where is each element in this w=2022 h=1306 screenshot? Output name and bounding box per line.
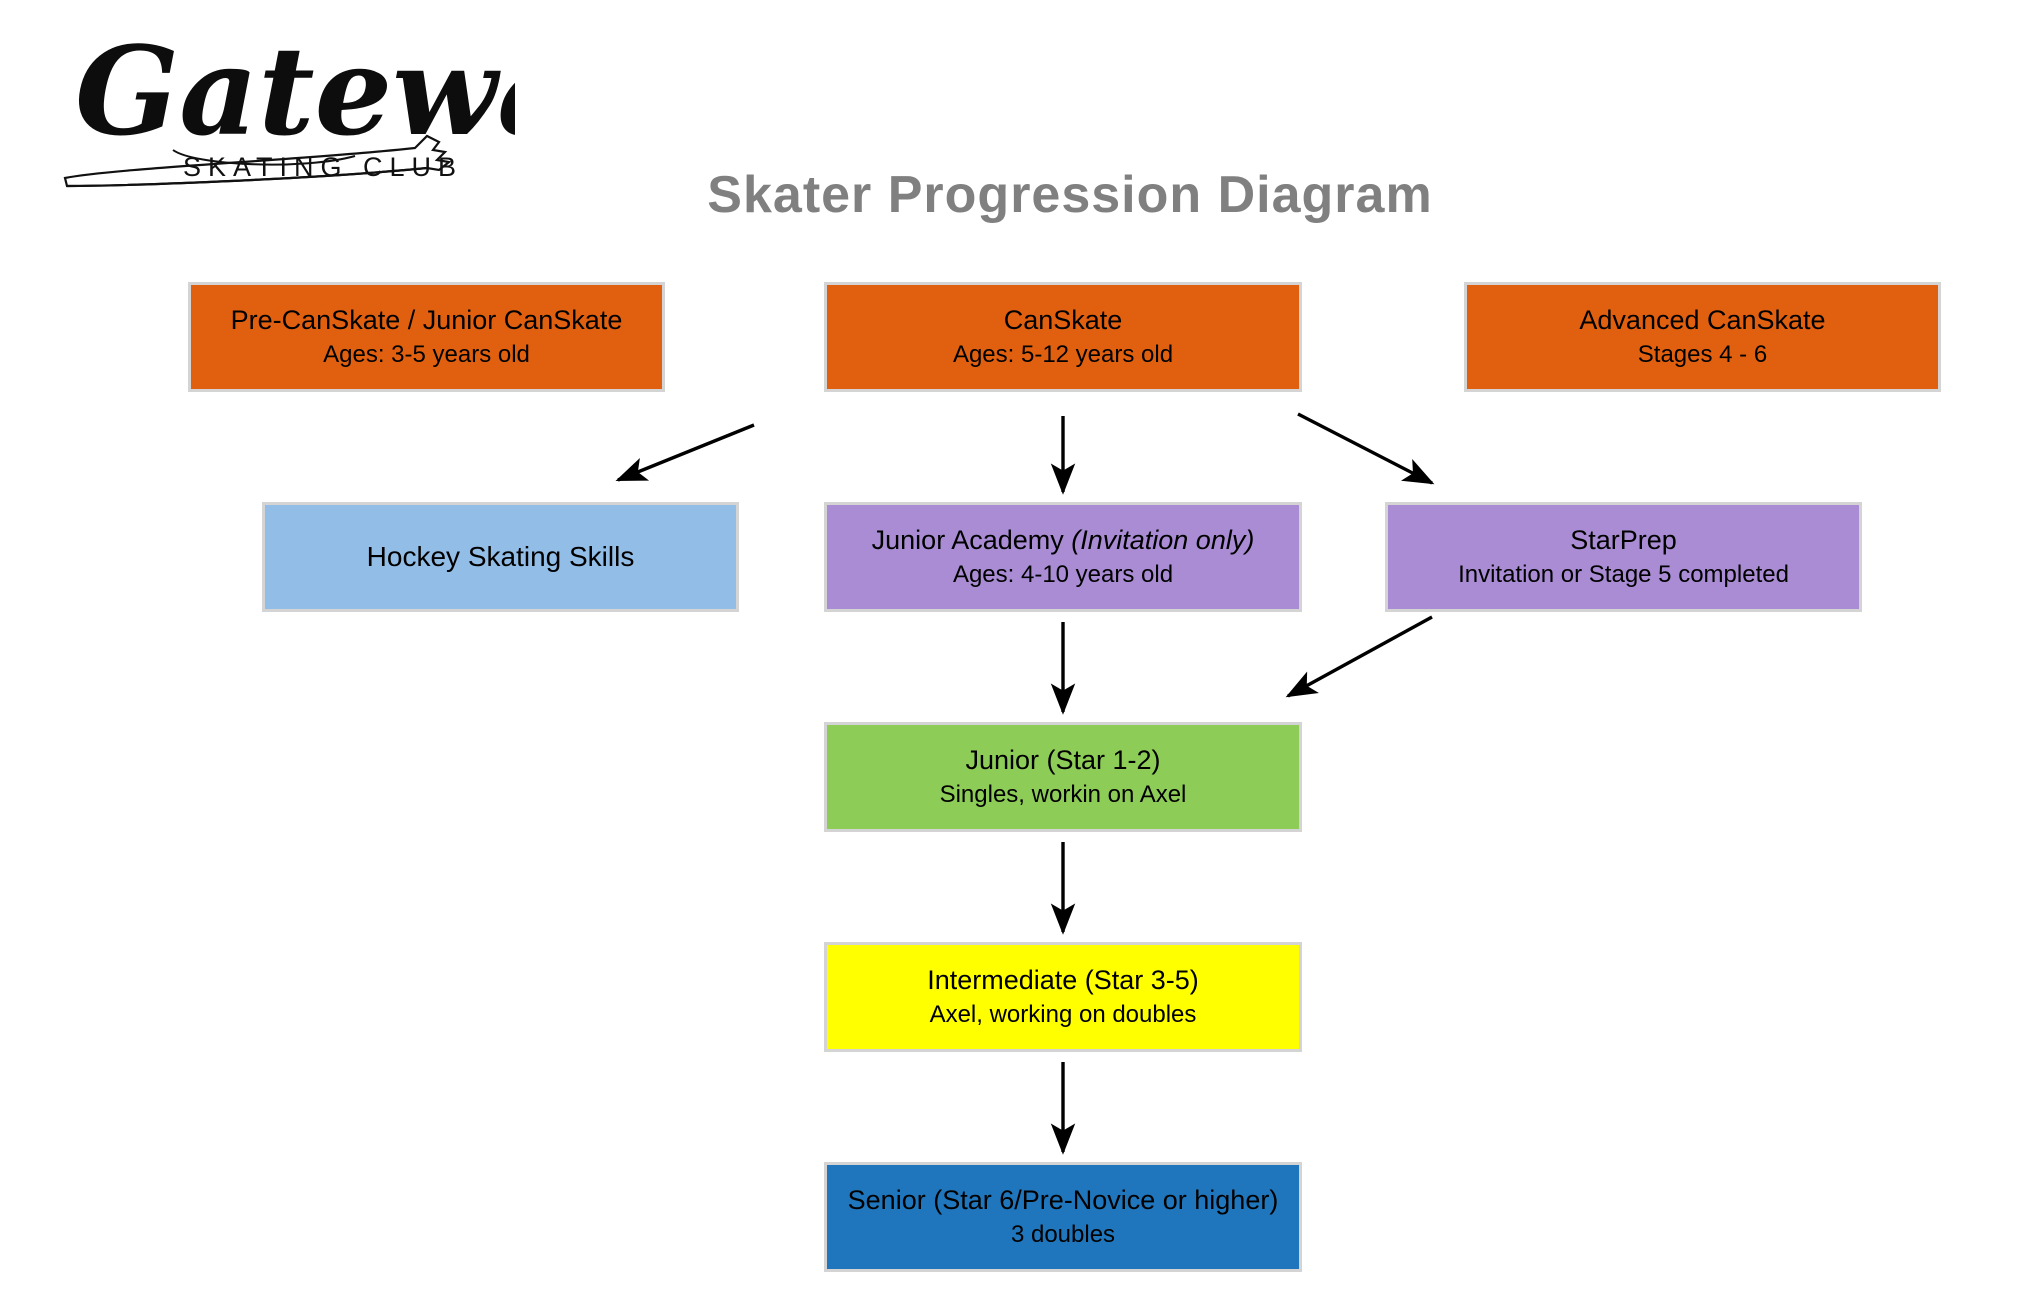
- node-senior[interactable]: Senior (Star 6/Pre-Novice or higher) 3 d…: [824, 1162, 1302, 1272]
- node-intermediate-line1: Intermediate (Star 3-5): [927, 965, 1199, 995]
- node-canskate-line2: Ages: 5-12 years old: [953, 342, 1173, 369]
- node-canskate[interactable]: CanSkate Ages: 5-12 years old: [824, 282, 1302, 392]
- node-junior-line1: Junior (Star 1-2): [965, 745, 1160, 775]
- node-hockey-skating-skills[interactable]: Hockey Skating Skills: [262, 502, 739, 612]
- node-senior-line1: Senior (Star 6/Pre-Novice or higher): [848, 1185, 1279, 1215]
- node-starprep-line1: StarPrep: [1570, 525, 1677, 555]
- node-pre-canskate-line2: Ages: 3-5 years old: [323, 342, 530, 369]
- logo-script-text: Gateway: [75, 30, 515, 163]
- node-starprep[interactable]: StarPrep Invitation or Stage 5 completed: [1385, 502, 1862, 612]
- node-junior-academy-line1: Junior Academy (Invitation only): [872, 525, 1255, 555]
- node-pre-canskate[interactable]: Pre-CanSkate / Junior CanSkate Ages: 3-5…: [188, 282, 665, 392]
- node-canskate-line1: CanSkate: [1004, 305, 1123, 335]
- node-advanced-canskate[interactable]: Advanced CanSkate Stages 4 - 6: [1464, 282, 1941, 392]
- diagram-canvas: Gateway SKATING CLUB Skater Progression …: [0, 0, 2022, 1306]
- gateway-skating-club-logo: Gateway SKATING CLUB: [55, 30, 515, 190]
- node-junior-academy-invitation-note: (Invitation only): [1071, 525, 1254, 555]
- node-hockey-skating-skills-line1: Hockey Skating Skills: [367, 541, 635, 572]
- logo-subtitle-text: SKATING CLUB: [183, 152, 463, 182]
- arrow-canskate-to-hockey: [618, 425, 754, 480]
- node-intermediate-line2: Axel, working on doubles: [930, 1002, 1197, 1029]
- node-junior-academy-title: Junior Academy: [872, 525, 1072, 555]
- node-starprep-line2: Invitation or Stage 5 completed: [1458, 562, 1789, 589]
- page-title: Skater Progression Diagram: [620, 165, 1520, 225]
- node-junior[interactable]: Junior (Star 1-2) Singles, workin on Axe…: [824, 722, 1302, 832]
- node-junior-line2: Singles, workin on Axel: [940, 782, 1187, 809]
- arrow-starprep-to-junior: [1288, 617, 1432, 696]
- node-junior-academy-line2: Ages: 4-10 years old: [953, 562, 1173, 589]
- arrow-canskate-to-starprep: [1298, 414, 1432, 483]
- node-junior-academy[interactable]: Junior Academy (Invitation only) Ages: 4…: [824, 502, 1302, 612]
- node-pre-canskate-line1: Pre-CanSkate / Junior CanSkate: [231, 305, 623, 335]
- node-advanced-canskate-line2: Stages 4 - 6: [1638, 342, 1767, 369]
- node-senior-line2: 3 doubles: [1011, 1222, 1115, 1249]
- node-intermediate[interactable]: Intermediate (Star 3-5) Axel, working on…: [824, 942, 1302, 1052]
- node-advanced-canskate-line1: Advanced CanSkate: [1579, 305, 1825, 335]
